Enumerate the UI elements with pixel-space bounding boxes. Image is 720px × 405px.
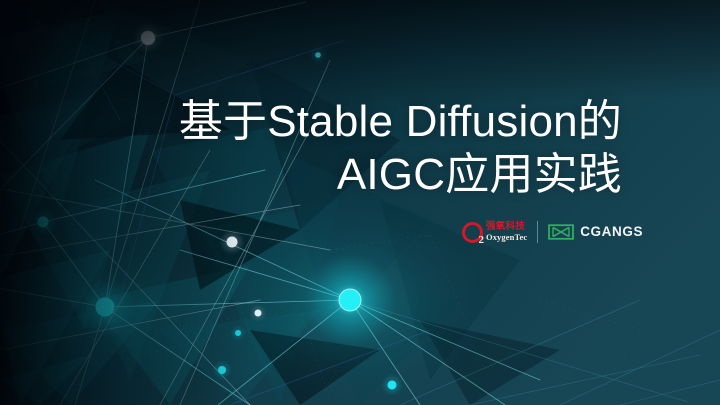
oxygentec-logo: 2 强氧科技 OxygenTec: [462, 222, 527, 243]
cgangs-hourglass-icon: [548, 224, 574, 240]
cgangs-logo: CGANGS: [548, 224, 643, 240]
oxygentec-name-en: OxygenTec: [486, 232, 527, 242]
logo-bar: 2 强氧科技 OxygenTec CGANGS: [462, 218, 643, 246]
presentation-slide: 基于Stable Diffusion的 AIGC应用实践 2 强氧科技 Oxyg…: [0, 0, 720, 405]
background-artwork: [0, 0, 720, 405]
cgangs-wordmark: CGANGS: [580, 225, 643, 239]
logo-divider: [537, 221, 538, 243]
o2-subscript: 2: [479, 235, 485, 246]
o2-circle-icon: 2: [462, 222, 483, 243]
oxygentec-name-cn: 强氧科技: [486, 222, 527, 232]
